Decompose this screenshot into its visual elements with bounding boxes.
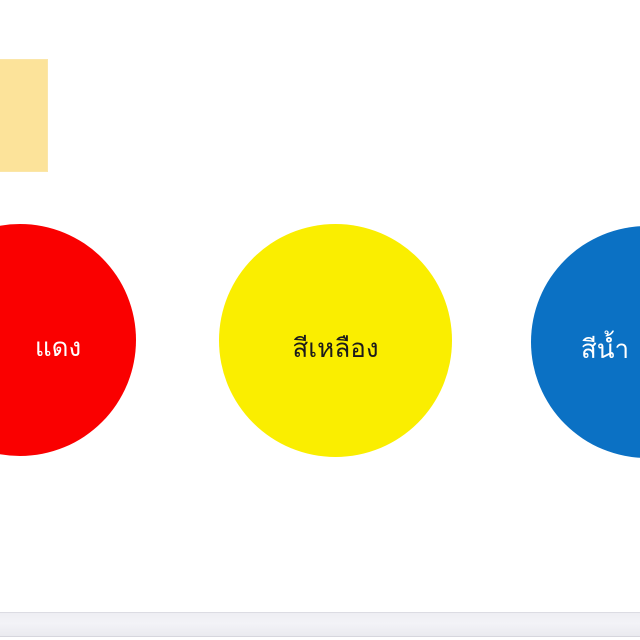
color-circle-yellow-label: สีเหลือง: [292, 336, 378, 362]
bottom-toolbar[interactable]: [0, 612, 640, 637]
color-circle-blue-label: สีน้ำ: [581, 337, 629, 363]
page-canvas: แดง สีเหลือง สีน้ำ: [0, 0, 640, 640]
pale-yellow-block: [0, 59, 48, 172]
color-circle-red-label: แดง: [35, 335, 81, 361]
color-circle-red[interactable]: แดง: [0, 224, 136, 456]
color-circle-blue[interactable]: สีน้ำ: [531, 226, 640, 458]
color-circle-yellow[interactable]: สีเหลือง: [219, 224, 452, 457]
